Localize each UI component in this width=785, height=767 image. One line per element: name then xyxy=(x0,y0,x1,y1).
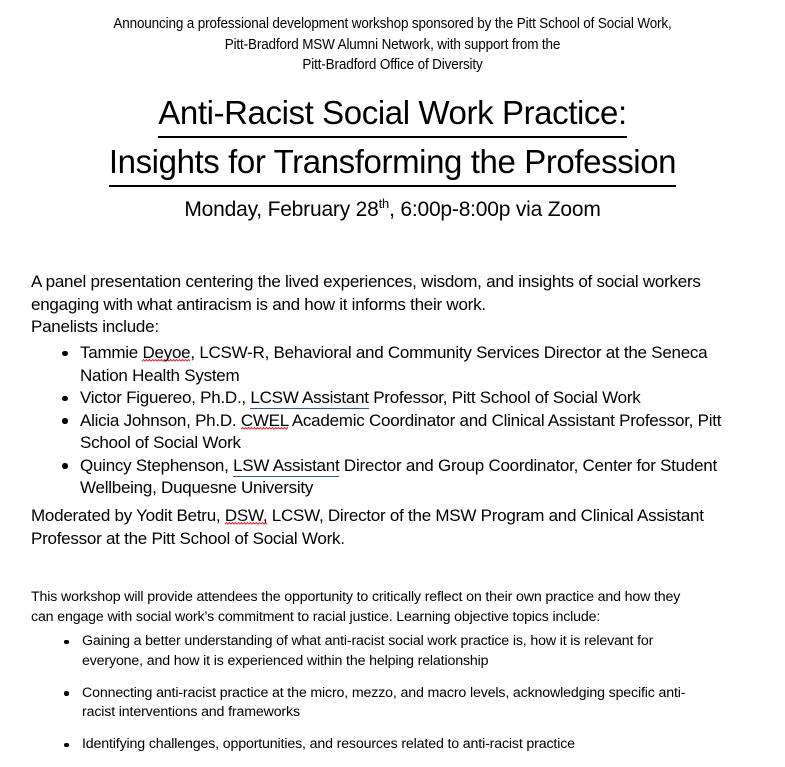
panelist-line-2: Nation Health System xyxy=(80,365,758,388)
spelling-error-mark: Deyoe xyxy=(142,343,190,363)
bullet-disc-icon xyxy=(62,351,68,357)
page-title-line-2: Insights for Transforming the Profession xyxy=(109,141,676,187)
objectives-intro-line-2: can engage with social work’s commitment… xyxy=(31,608,751,628)
bullet-disc-icon xyxy=(64,691,69,696)
panelist-alicia-johnson: Alicia Johnson, Ph.D. CWEL Academic Coor… xyxy=(58,410,758,455)
bullet-disc-icon xyxy=(62,463,68,469)
intro-line-2: engaging with what antiracism is and how… xyxy=(31,294,745,317)
moderator-line-1: Moderated by Yodit Betru, DSW, LCSW, Dir… xyxy=(31,505,745,528)
objectives-list: Gaining a better understanding of what a… xyxy=(58,632,758,767)
objective-line-2: racist interventions and frameworks xyxy=(82,703,758,723)
grammar-error-mark: LSW Assistant xyxy=(233,456,339,477)
flyer-page: Announcing a professional development wo… xyxy=(0,0,785,766)
text-run: Victor Figuereo, Ph.D., xyxy=(80,388,250,407)
text-run: , LCSW-R, Behavioral and Community Servi… xyxy=(190,343,707,362)
text-run: Tammie xyxy=(80,343,142,362)
objective-gaining-understanding: Gaining a better understanding of what a… xyxy=(58,632,758,671)
intro-line-1: A panel presentation centering the lived… xyxy=(31,271,745,294)
panelist-line-1: Victor Figuereo, Ph.D., LCSW Assistant P… xyxy=(80,387,758,410)
event-dateline: Monday, February 28th, 6:00p-8:00p via Z… xyxy=(0,196,785,224)
panelists-list: Tammie Deyoe, LCSW-R, Behavioral and Com… xyxy=(58,342,758,500)
intro-line-3: Panelists include: xyxy=(31,316,745,339)
bullet-disc-icon xyxy=(64,640,69,645)
page-title-line-1: Anti-Racist Social Work Practice: xyxy=(158,92,627,138)
text-run: Quincy Stephenson, xyxy=(80,456,233,475)
panelist-quincy-stephenson: Quincy Stephenson, LSW Assistant Directo… xyxy=(58,455,758,500)
announcement-line-2: Pitt-Bradford MSW Alumni Network, with s… xyxy=(27,35,757,56)
intro-paragraph: A panel presentation centering the lived… xyxy=(31,271,745,339)
grammar-error-mark: LCSW Assistant xyxy=(250,388,368,409)
text-run: Professor, Pitt School of Social Work xyxy=(369,388,641,407)
text-run: Moderated by Yodit Betru, xyxy=(31,506,225,525)
announcement-block: Announcing a professional development wo… xyxy=(27,14,757,76)
objective-line-1: Identifying challenges, opportunities, a… xyxy=(82,735,758,755)
objective-identifying-challenges: Identifying challenges, opportunities, a… xyxy=(58,735,758,755)
objective-line-1: Connecting anti-racist practice at the m… xyxy=(82,684,758,704)
title-line-1-wrap: Anti-Racist Social Work Practice: xyxy=(0,92,785,138)
panelist-line-1: Alicia Johnson, Ph.D. CWEL Academic Coor… xyxy=(80,410,758,433)
dateline-date: Monday, February 28 xyxy=(184,198,378,221)
objective-line-2: everyone, and how it is experienced with… xyxy=(82,652,758,672)
panelist-line-1: Tammie Deyoe, LCSW-R, Behavioral and Com… xyxy=(80,342,758,365)
objective-connecting-practice: Connecting anti-racist practice at the m… xyxy=(58,684,758,723)
bullet-disc-icon xyxy=(64,743,69,748)
text-run: LCSW, Director of the MSW Program and Cl… xyxy=(267,506,703,525)
objectives-intro-line-1: This workshop will provide attendees the… xyxy=(31,588,751,608)
panelist-tammie-deyoe: Tammie Deyoe, LCSW-R, Behavioral and Com… xyxy=(58,342,758,387)
objectives-intro-paragraph: This workshop will provide attendees the… xyxy=(31,588,751,627)
bullet-disc-icon xyxy=(62,396,68,402)
objective-line-1: Gaining a better understanding of what a… xyxy=(82,632,758,652)
dateline-ordinal-suffix: th xyxy=(379,196,389,211)
panelist-victor-figuereo: Victor Figuereo, Ph.D., LCSW Assistant P… xyxy=(58,387,758,410)
text-run: Director and Group Coordinator, Center f… xyxy=(339,456,717,475)
announcement-line-1: Announcing a professional development wo… xyxy=(27,14,757,35)
panelist-line-1: Quincy Stephenson, LSW Assistant Directo… xyxy=(80,455,758,478)
panelist-line-2: School of Social Work xyxy=(80,432,758,455)
moderator-paragraph: Moderated by Yodit Betru, DSW, LCSW, Dir… xyxy=(31,505,745,550)
bullet-disc-icon xyxy=(62,418,68,424)
title-line-2-wrap: Insights for Transforming the Profession xyxy=(0,141,785,187)
announcement-line-3: Pitt-Bradford Office of Diversity xyxy=(27,55,757,76)
spelling-error-mark: CWEL xyxy=(241,411,289,431)
spelling-error-mark: DSW, xyxy=(225,506,267,526)
text-run: Academic Coordinator and Clinical Assist… xyxy=(288,411,721,430)
dateline-time: , 6:00p-8:00p via Zoom xyxy=(389,198,601,221)
text-run: Alicia Johnson, Ph.D. xyxy=(80,411,241,430)
moderator-line-2: Professor at the Pitt School of Social W… xyxy=(31,528,745,551)
panelist-line-2: Wellbeing, Duquesne University xyxy=(80,477,758,500)
